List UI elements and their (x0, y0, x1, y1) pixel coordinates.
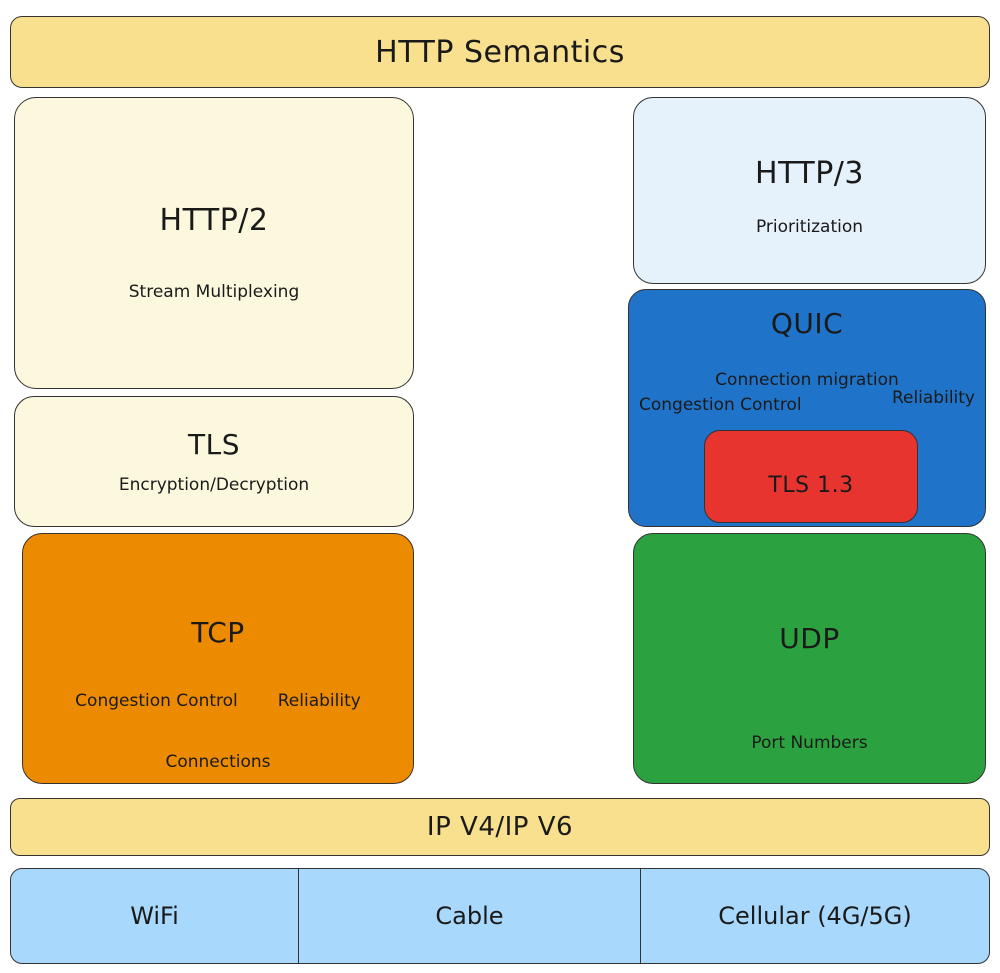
tls-layer: TLS Encryption/Decryption (14, 396, 414, 527)
http2-layer: HTTP/2 Stream Multiplexing (14, 97, 414, 389)
tcp-feature-connections: Connections (23, 752, 413, 772)
http2-title: HTTP/2 (160, 203, 269, 238)
tls-subtitle: Encryption/Decryption (119, 475, 309, 495)
http3-title: HTTP/3 (755, 156, 864, 191)
udp-subtitle: Port Numbers (634, 733, 985, 753)
tcp-feature-reliability: Reliability (278, 691, 361, 711)
udp-layer: UDP Port Numbers (633, 533, 986, 784)
quic-feature-connection-migration: Connection migration (629, 370, 985, 390)
quic-feature-row: Congestion Control Reliability (639, 395, 975, 415)
tcp-title: TCP (191, 616, 244, 649)
tls-title: TLS (188, 428, 240, 461)
http3-layer: HTTP/3 Prioritization (633, 97, 986, 284)
physical-cell-wifi: WiFi (11, 869, 299, 963)
tcp-layer: TCP Congestion Control Reliability Conne… (22, 533, 414, 784)
physical-cell-cable: Cable (299, 869, 641, 963)
tcp-feature-row: Congestion Control Reliability (23, 691, 413, 711)
quic-title: QUIC (771, 307, 843, 340)
http2-subtitle: Stream Multiplexing (129, 282, 300, 302)
tls13-title: TLS 1.3 (768, 473, 853, 498)
http-semantics-layer: HTTP Semantics (10, 16, 990, 88)
quic-layer: QUIC Connection migration Congestion Con… (628, 289, 986, 527)
protocol-stack-diagram: HTTP Semantics HTTP/2 Stream Multiplexin… (0, 0, 1000, 973)
http-semantics-label: HTTP Semantics (375, 35, 625, 70)
ip-layer: IP V4/IP V6 (10, 798, 990, 856)
physical-layer: WiFi Cable Cellular (4G/5G) (10, 868, 990, 964)
ip-layer-label: IP V4/IP V6 (427, 812, 573, 842)
udp-title: UDP (779, 622, 839, 655)
quic-feature-congestion-control: Congestion Control (639, 395, 802, 415)
quic-feature-reliability: Reliability (892, 388, 975, 408)
tcp-feature-congestion-control: Congestion Control (75, 691, 238, 711)
tls13-nested-layer: TLS 1.3 (704, 430, 918, 523)
http3-subtitle: Prioritization (756, 217, 863, 237)
physical-cell-cellular: Cellular (4G/5G) (641, 869, 989, 963)
